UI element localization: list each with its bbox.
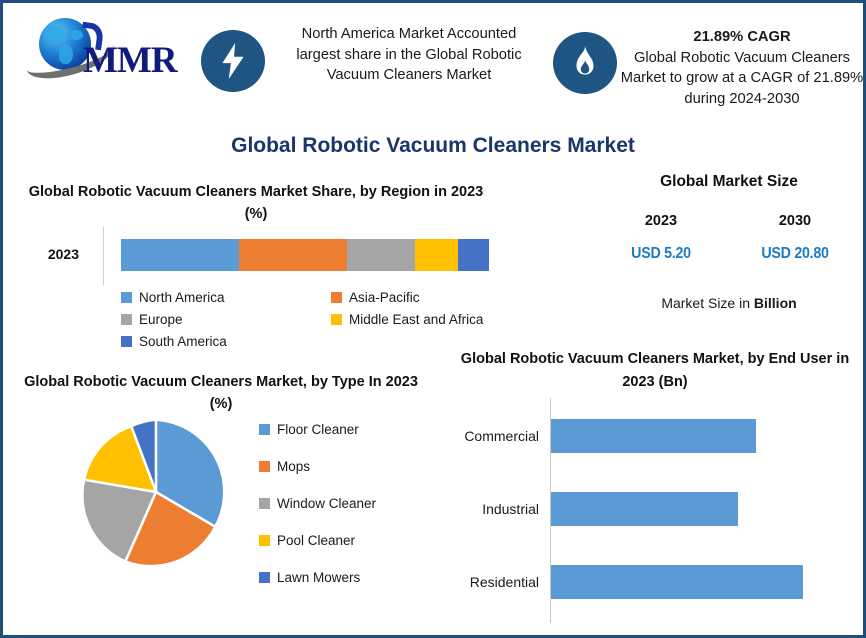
callout-right-text: 21.89% CAGR Global Robotic Vacuum Cleane…: [617, 27, 866, 109]
region-segment-europe: [347, 239, 415, 271]
market-size-title: Global Market Size: [595, 173, 863, 191]
page-title: Global Robotic Vacuum Cleaners Market: [3, 134, 863, 158]
legend-swatch-europe: [121, 314, 132, 325]
end-user-chart-title: Global Robotic Vacuum Cleaners Market, b…: [455, 348, 855, 394]
legend-swatch-south-america: [121, 336, 132, 347]
end-user-chart: Global Robotic Vacuum Cleaners Market, b…: [435, 348, 863, 623]
legend-swatch-asia-pacific: [331, 292, 342, 303]
region-chart-axis: [103, 227, 104, 285]
legend-swatch-lawn-mowers: [259, 572, 270, 583]
region-segment-asia-pacific: [239, 239, 348, 271]
market-size-footnote-prefix: Market Size in: [661, 295, 754, 311]
region-legend: North America Asia-Pacific Europe Middle…: [121, 286, 521, 352]
legend-swatch-floor-cleaner: [259, 424, 270, 435]
pie-chart: [81, 417, 231, 567]
region-segment-middle-east-africa: [415, 239, 457, 271]
region-segment-north-america: [121, 239, 239, 271]
legend-item-south-america: South America: [121, 330, 331, 352]
legend-label-north-america: North America: [139, 290, 225, 305]
legend-label-pool-cleaner: Pool Cleaner: [277, 533, 355, 548]
end-user-label-commercial: Commercial: [435, 419, 539, 453]
legend-item-europe: Europe: [121, 308, 331, 330]
legend-swatch-pool-cleaner: [259, 535, 270, 546]
pie-legend: Floor Cleaner Mops Window Cleaner Pool C…: [259, 411, 449, 596]
legend-item-asia-pacific: Asia-Pacific: [331, 286, 521, 308]
market-size-value-2023: USD 5.20: [606, 245, 716, 263]
legend-label-mops: Mops: [277, 459, 310, 474]
legend-item-pool-cleaner: Pool Cleaner: [259, 522, 449, 559]
header: MMR North America Market Accounted large…: [3, 3, 863, 125]
legend-item-floor-cleaner: Floor Cleaner: [259, 411, 449, 448]
legend-label-europe: Europe: [139, 312, 183, 327]
region-category-label: 2023: [23, 246, 79, 262]
end-user-bar-commercial: [551, 419, 756, 453]
market-size-column-2030: 2030 USD 20.80: [735, 213, 855, 263]
end-user-label-residential: Residential: [435, 565, 539, 599]
end-user-row-industrial: Industrial: [435, 492, 855, 526]
mmr-logo: MMR: [25, 13, 197, 83]
legend-label-floor-cleaner: Floor Cleaner: [277, 422, 359, 437]
legend-item-window-cleaner: Window Cleaner: [259, 485, 449, 522]
end-user-row-commercial: Commercial: [435, 419, 855, 453]
brand-name: MMR: [83, 39, 177, 82]
type-share-chart: Global Robotic Vacuum Cleaners Market, b…: [21, 371, 441, 621]
market-size-footnote: Market Size in Billion: [595, 295, 863, 311]
region-segment-south-america: [458, 239, 489, 271]
infographic-frame: MMR North America Market Accounted large…: [0, 0, 866, 638]
market-size-footnote-unit: Billion: [754, 295, 797, 311]
region-stacked-bar: [121, 239, 489, 271]
market-size-column-2023: 2023 USD 5.20: [601, 213, 721, 263]
legend-item-north-america: North America: [121, 286, 331, 308]
market-size-year-2030: 2030: [735, 213, 855, 229]
legend-item-mops: Mops: [259, 448, 449, 485]
legend-label-window-cleaner: Window Cleaner: [277, 496, 376, 511]
end-user-label-industrial: Industrial: [435, 492, 539, 526]
end-user-bar-residential: [551, 565, 803, 599]
legend-label-middle-east-africa: Middle East and Africa: [349, 312, 483, 327]
legend-label-south-america: South America: [139, 334, 227, 349]
legend-swatch-window-cleaner: [259, 498, 270, 509]
callout-left-text: North America Market Accounted largest s…: [278, 24, 540, 86]
cagr-body: Global Robotic Vacuum Cleaners Market to…: [621, 50, 863, 107]
cagr-heading: 21.89% CAGR: [617, 27, 866, 48]
flame-icon: [553, 32, 617, 94]
market-size-value-2030: USD 20.80: [740, 245, 850, 263]
legend-item-middle-east-africa: Middle East and Africa: [331, 308, 521, 330]
legend-swatch-middle-east-africa: [331, 314, 342, 325]
legend-label-asia-pacific: Asia-Pacific: [349, 290, 420, 305]
legend-item-lawn-mowers: Lawn Mowers: [259, 559, 449, 596]
end-user-bar-industrial: [551, 492, 738, 526]
pie-chart-title: Global Robotic Vacuum Cleaners Market, b…: [21, 371, 421, 415]
legend-swatch-north-america: [121, 292, 132, 303]
legend-label-lawn-mowers: Lawn Mowers: [277, 570, 360, 585]
end-user-row-residential: Residential: [435, 565, 855, 599]
region-share-chart: Global Robotic Vacuum Cleaners Market Sh…: [21, 181, 513, 353]
lightning-bolt-icon: [201, 30, 265, 92]
market-size-panel: Global Market Size 2023 USD 5.20 2030 US…: [595, 173, 863, 321]
legend-swatch-mops: [259, 461, 270, 472]
region-chart-title: Global Robotic Vacuum Cleaners Market Sh…: [21, 181, 491, 225]
market-size-year-2023: 2023: [601, 213, 721, 229]
